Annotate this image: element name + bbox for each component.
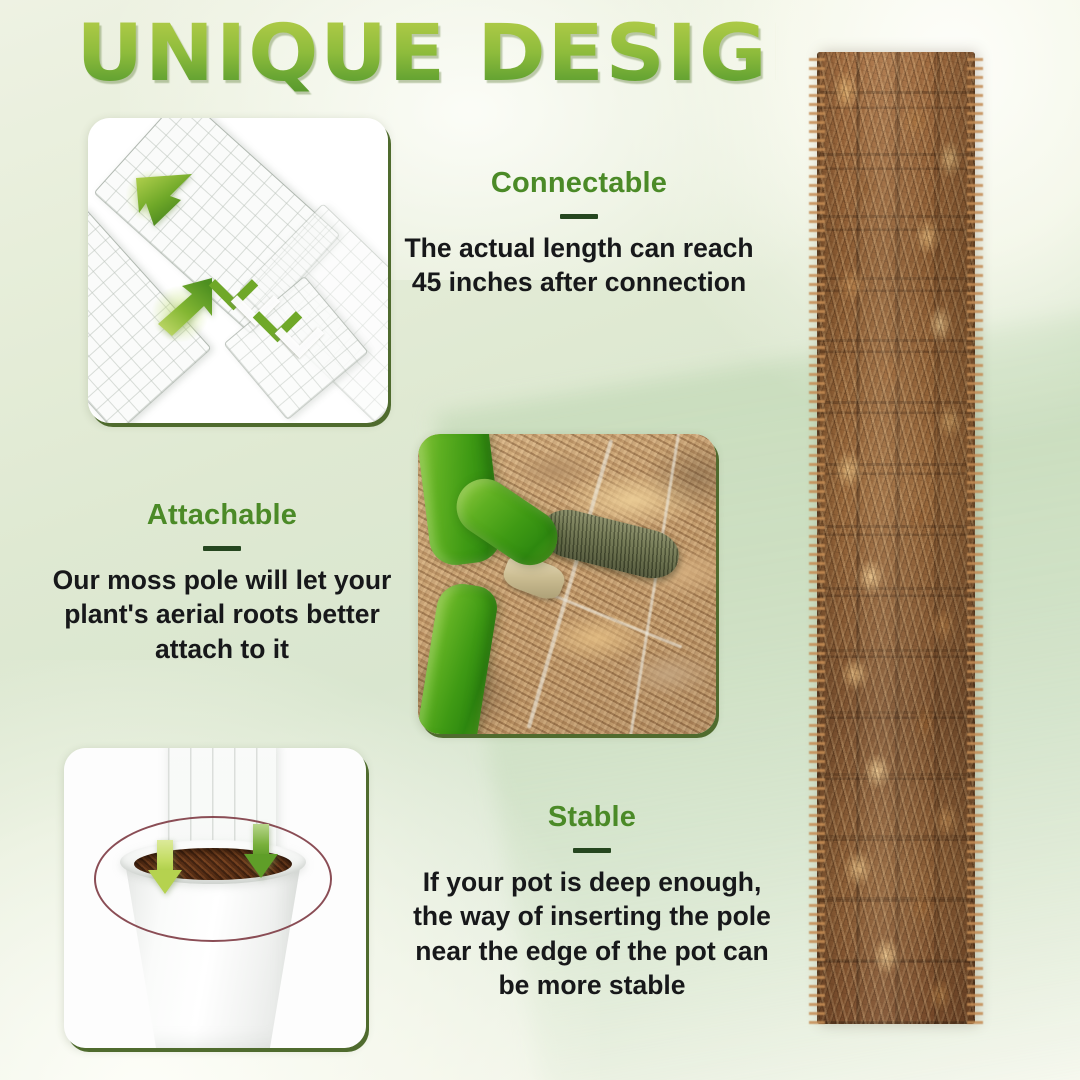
moss-pole-shading [817,52,975,1024]
aerial-root-photo [418,434,716,734]
heading-divider [560,214,598,219]
image-card-stable [64,748,366,1048]
feature-heading-connectable: Connectable [370,168,788,200]
image-card-connectable [88,118,388,423]
highlight-ellipse-annotation [94,816,332,942]
moss-pole-product-image [817,52,975,1024]
feature-body-stable: If your pot is deep enough, the way of i… [378,865,806,1003]
moss-fringe-left [809,52,825,1024]
image-card-attachable [418,434,716,734]
feature-body-connectable: The actual length can reach 45 inches af… [370,231,788,300]
feature-text-connectable: Connectable The actual length can reach … [370,168,788,300]
feature-body-attachable: Our moss pole will let your plant's aeri… [22,563,422,666]
moss-fringe-right [967,52,983,1024]
page-title: UNIQUE DESIGN [76,6,776,102]
pot-insertion-illustration [64,748,366,1048]
product-infographic: UNIQUE DESIGN [0,0,1080,1080]
heading-divider [203,546,241,551]
feature-text-stable: Stable If your pot is deep enough, the w… [378,802,806,1003]
connectable-illustration [88,118,388,423]
feature-heading-stable: Stable [378,802,806,834]
heading-divider [573,848,611,853]
feature-text-attachable: Attachable Our moss pole will let your p… [22,500,422,666]
feature-heading-attachable: Attachable [22,500,422,532]
